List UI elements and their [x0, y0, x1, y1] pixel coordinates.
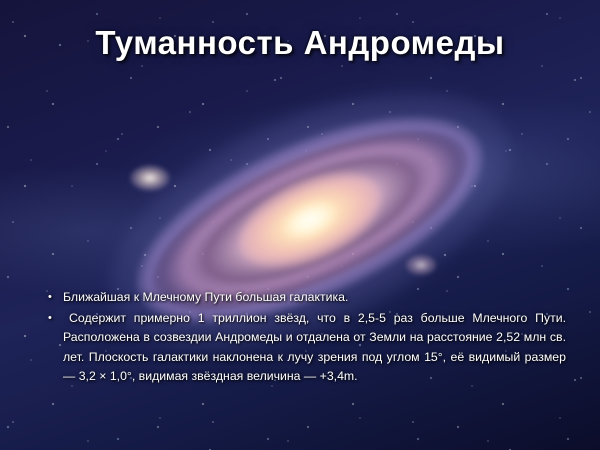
slide-body-text: • Ближайшая к Млечному Пути большая гала…: [48, 288, 566, 387]
slide-title: Туманность Андромеды: [0, 24, 600, 62]
bullet-text: Ближайшая к Млечному Пути большая галакт…: [63, 288, 566, 308]
galaxy-bulge: [226, 154, 395, 286]
presentation-slide: Туманность Андромеды • Ближайшая к Млечн…: [0, 0, 600, 450]
bullet-item: • Содержит примерно 1 триллион звёзд, чт…: [48, 309, 566, 387]
galaxy-core: [277, 194, 343, 247]
satellite-galaxy-m32-icon: [406, 255, 436, 275]
bullet-text: Содержит примерно 1 триллион звёзд, что …: [63, 309, 566, 387]
bullet-marker-icon: •: [48, 288, 63, 308]
bullet-item: • Ближайшая к Млечному Пути большая гала…: [48, 288, 566, 308]
bullet-marker-icon: •: [48, 309, 63, 329]
satellite-galaxy-m110-icon: [130, 165, 170, 191]
